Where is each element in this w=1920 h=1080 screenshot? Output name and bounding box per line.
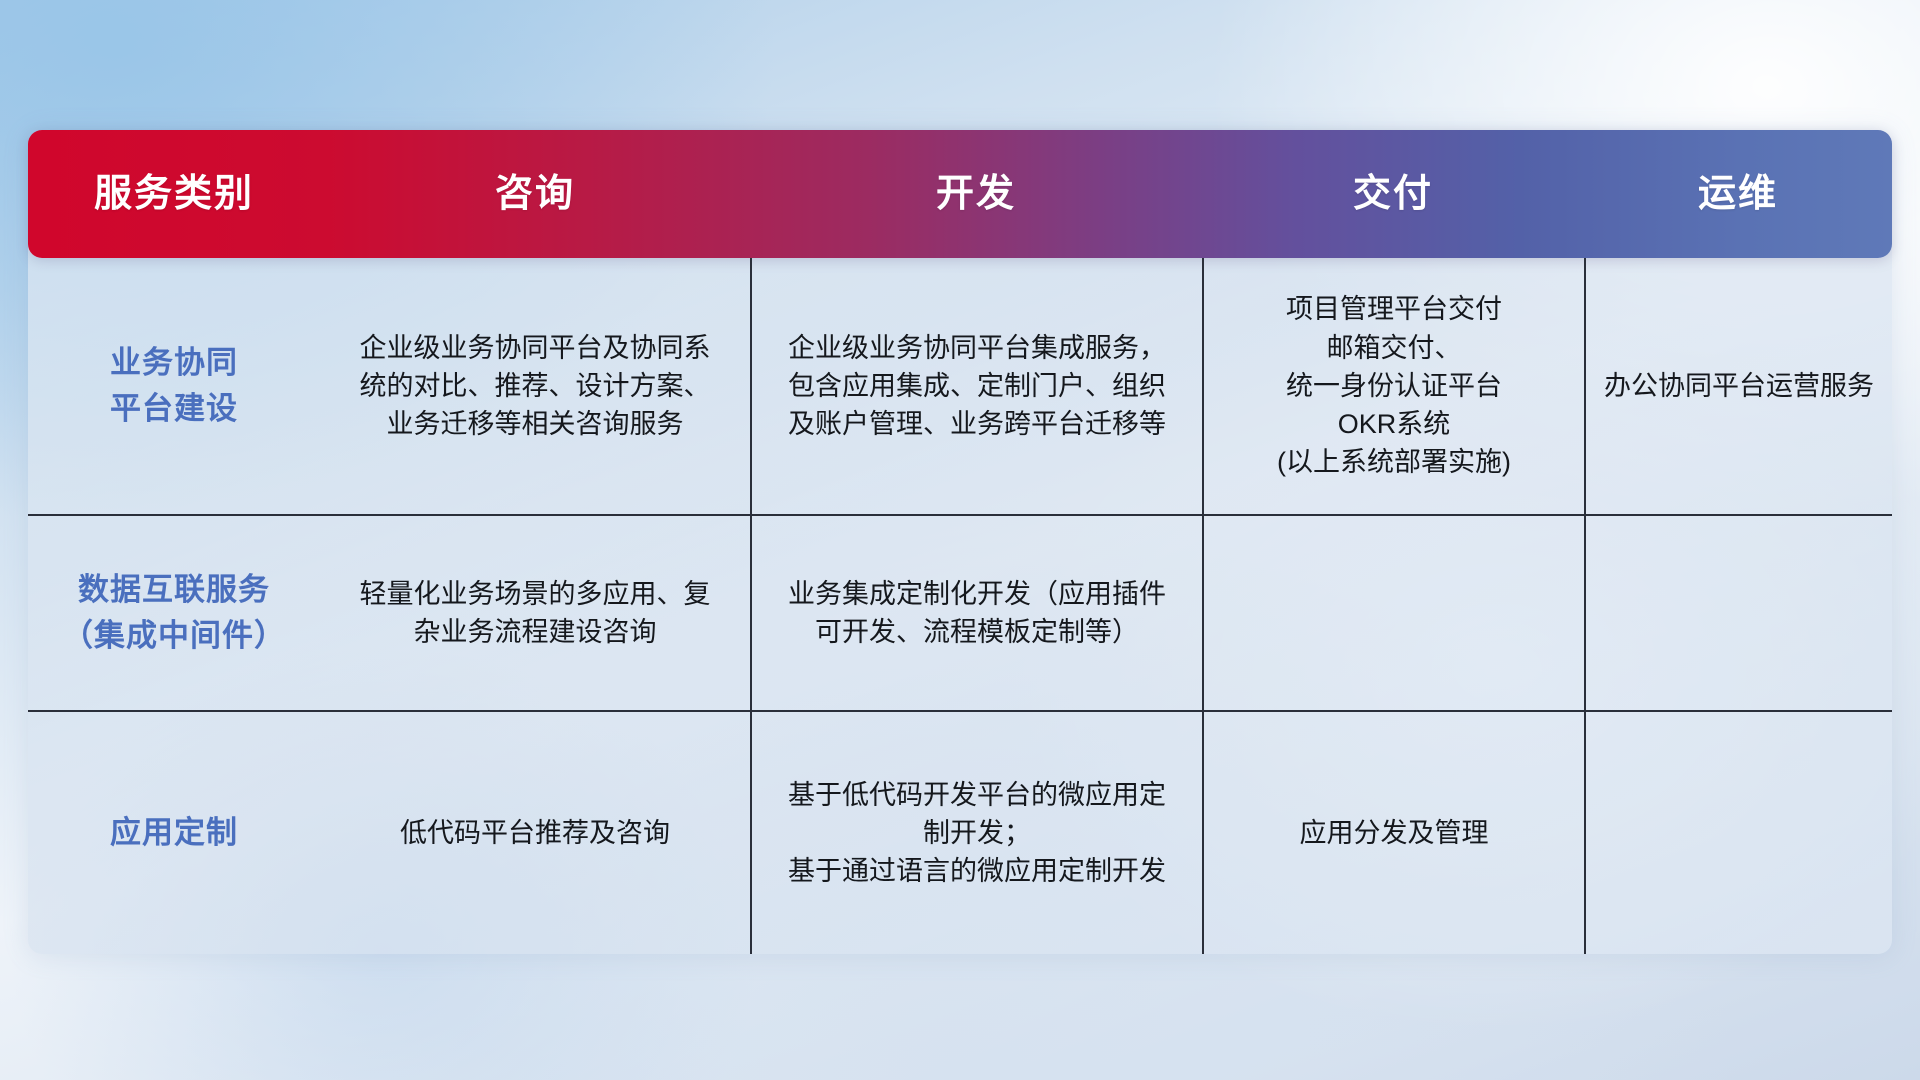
table-body: 业务协同 平台建设 企业级业务协同平台及协同系 统的对比、推荐、设计方案、 业务…: [28, 258, 1892, 954]
column-header-consulting: 咨询: [320, 175, 750, 213]
cell-delivery-row1: 项目管理平台交付 邮箱交付、 统一身份认证平台 OKR系统 (以上系统部署实施): [1202, 258, 1584, 514]
table-header-row: 服务类别 咨询 开发 交付 运维: [28, 130, 1892, 258]
table-row: 数据互联服务 （集成中间件） 轻量化业务场景的多应用、复 杂业务流程建设咨询 业…: [28, 516, 1892, 712]
cell-consulting-row2: 轻量化业务场景的多应用、复 杂业务流程建设咨询: [320, 516, 750, 710]
cell-consulting-row3: 低代码平台推荐及咨询: [320, 712, 750, 954]
cell-operations-row3: [1584, 712, 1892, 954]
cell-operations-row2: [1584, 516, 1892, 710]
cell-delivery-row2: [1202, 516, 1584, 710]
cell-development-row2: 业务集成定制化开发（应用插件 可开发、流程模板定制等）: [750, 516, 1202, 710]
column-header-delivery: 交付: [1202, 175, 1584, 213]
row-label-data-interconnect: 数据互联服务 （集成中间件）: [28, 516, 320, 710]
table-row: 应用定制 低代码平台推荐及咨询 基于低代码开发平台的微应用定 制开发； 基于通过…: [28, 712, 1892, 954]
column-header-category: 服务类别: [28, 175, 320, 213]
cell-operations-row1: 办公协同平台运营服务: [1584, 258, 1892, 514]
cell-consulting-row1: 企业级业务协同平台及协同系 统的对比、推荐、设计方案、 业务迁移等相关咨询服务: [320, 258, 750, 514]
row-label-app-customization: 应用定制: [28, 712, 320, 954]
table-row: 业务协同 平台建设 企业级业务协同平台及协同系 统的对比、推荐、设计方案、 业务…: [28, 258, 1892, 516]
cell-development-row3: 基于低代码开发平台的微应用定 制开发； 基于通过语言的微应用定制开发: [750, 712, 1202, 954]
cell-delivery-row3: 应用分发及管理: [1202, 712, 1584, 954]
column-header-operations: 运维: [1584, 175, 1892, 213]
cell-development-row1: 企业级业务协同平台集成服务， 包含应用集成、定制门户、组织 及账户管理、业务跨平…: [750, 258, 1202, 514]
column-header-development: 开发: [750, 175, 1202, 213]
row-label-business-collaboration: 业务协同 平台建设: [28, 258, 320, 514]
